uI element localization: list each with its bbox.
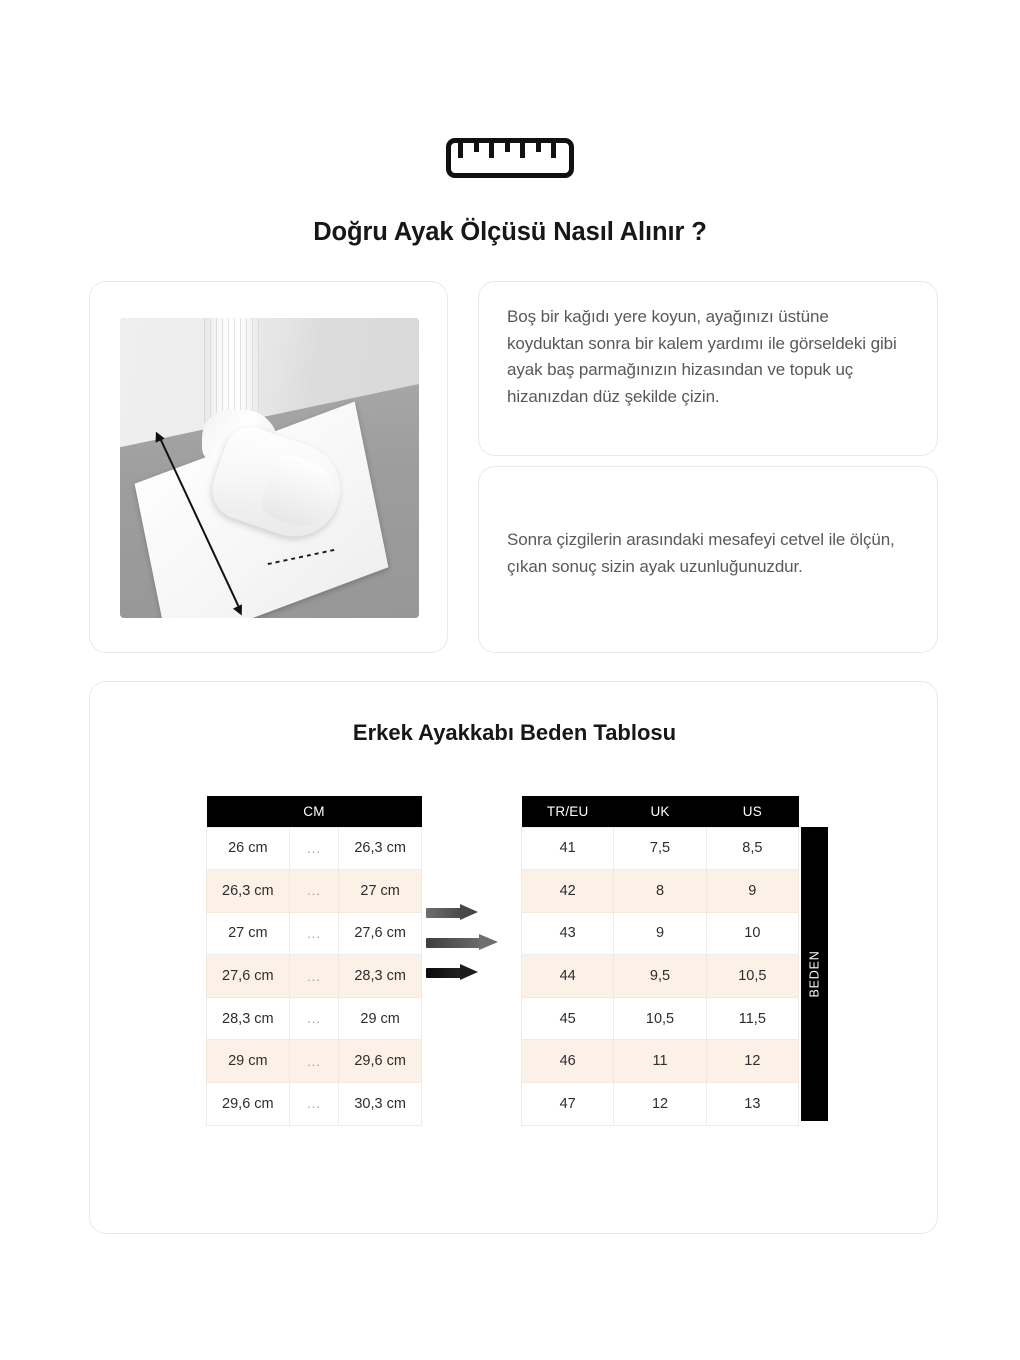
- cm-to-cell: 29 cm: [339, 997, 422, 1040]
- arrow-tip: [460, 964, 478, 980]
- table-row: 29,6 cm...30,3 cm: [207, 1083, 422, 1126]
- arrow-bar: [426, 938, 481, 948]
- cm-table-header-row: CM: [207, 796, 422, 827]
- table-row: 27,6 cm...28,3 cm: [207, 955, 422, 998]
- treu-cell: 47: [522, 1083, 614, 1126]
- ruler-tick: [458, 143, 463, 158]
- cm-from-cell: 28,3 cm: [207, 997, 290, 1040]
- cm-separator-cell: ...: [289, 997, 339, 1040]
- cm-from-cell: 29,6 cm: [207, 1083, 290, 1126]
- treu-cell: 43: [522, 912, 614, 955]
- size-chart-title: Erkek Ayakkabı Beden Tablosu: [90, 720, 939, 746]
- cm-column-header: CM: [207, 796, 422, 827]
- uk-cell: 9,5: [614, 955, 706, 998]
- uk-cell: 11: [614, 1040, 706, 1083]
- us-cell: 11,5: [706, 997, 798, 1040]
- ruler-tick: [520, 143, 525, 158]
- cm-to-cell: 27 cm: [339, 870, 422, 913]
- cm-from-cell: 26 cm: [207, 827, 290, 870]
- size-column-header: UK: [614, 796, 706, 827]
- cm-from-cell: 29 cm: [207, 1040, 290, 1083]
- instruction-card-2: Sonra çizgilerin arasındaki mesafeyi cet…: [478, 466, 938, 653]
- arrow-tip: [460, 904, 478, 920]
- size-guide-page: Doğru Ayak Ölçüsü Nasıl Alınır ? Boş bir…: [0, 0, 1020, 1360]
- table-row: 26 cm...26,3 cm: [207, 827, 422, 870]
- size-table-head: TR/EUUKUS: [522, 796, 799, 827]
- table-row: 28,3 cm...29 cm: [207, 997, 422, 1040]
- ruler-icon: [446, 138, 574, 178]
- treu-cell: 44: [522, 955, 614, 998]
- uk-cell: 8: [614, 870, 706, 913]
- cm-to-cell: 30,3 cm: [339, 1083, 422, 1126]
- cm-to-cell: 29,6 cm: [339, 1040, 422, 1083]
- ruler-tick: [489, 143, 494, 158]
- table-row: 4289: [522, 870, 799, 913]
- page-title: Doğru Ayak Ölçüsü Nasıl Alınır ?: [0, 218, 1020, 247]
- us-cell: 10: [706, 912, 798, 955]
- treu-cell: 46: [522, 1040, 614, 1083]
- beden-side-label: BEDEN: [801, 827, 828, 1121]
- instruction-text-2: Sonra çizgilerin arasındaki mesafeyi cet…: [507, 527, 899, 580]
- cm-separator-cell: ...: [289, 870, 339, 913]
- arrow-bar: [426, 908, 462, 918]
- table-row: 461112: [522, 1040, 799, 1083]
- instruction-photo-card: [89, 281, 448, 653]
- size-chart-card: Erkek Ayakkabı Beden Tablosu CM 26 cm...…: [89, 681, 938, 1234]
- table-row: 417,58,5: [522, 827, 799, 870]
- size-column-header: TR/EU: [522, 796, 614, 827]
- cm-separator-cell: ...: [289, 912, 339, 955]
- cm-to-cell: 26,3 cm: [339, 827, 422, 870]
- cm-separator-cell: ...: [289, 1083, 339, 1126]
- arrow-right-icon-3: [426, 964, 478, 981]
- ruler-tick: [474, 143, 479, 152]
- us-cell: 13: [706, 1083, 798, 1126]
- ruler-tick: [551, 143, 556, 158]
- us-cell: 12: [706, 1040, 798, 1083]
- uk-cell: 10,5: [614, 997, 706, 1040]
- cm-from-cell: 26,3 cm: [207, 870, 290, 913]
- size-table-header-row: TR/EUUKUS: [522, 796, 799, 827]
- table-row: 43910: [522, 912, 799, 955]
- cm-from-cell: 27,6 cm: [207, 955, 290, 998]
- cm-table-body: 26 cm...26,3 cm26,3 cm...27 cm27 cm...27…: [207, 827, 422, 1125]
- us-cell: 9: [706, 870, 798, 913]
- ruler-tick: [505, 143, 510, 152]
- uk-cell: 7,5: [614, 827, 706, 870]
- arrow-tip: [479, 934, 498, 950]
- arrow-bar: [426, 968, 462, 978]
- uk-cell: 9: [614, 912, 706, 955]
- cm-to-cell: 28,3 cm: [339, 955, 422, 998]
- ruler-icon-wrap: [0, 138, 1020, 178]
- size-table: TR/EUUKUS 417,58,5428943910449,510,54510…: [521, 796, 799, 1126]
- table-row: 471213: [522, 1083, 799, 1126]
- cm-separator-cell: ...: [289, 955, 339, 998]
- instruction-card-1: Boş bir kağıdı yere koyun, ayağınızı üst…: [478, 281, 938, 456]
- photo-sock-ribbing: [204, 318, 260, 425]
- instruction-text-1: Boş bir kağıdı yere koyun, ayağınızı üst…: [507, 304, 907, 410]
- us-cell: 10,5: [706, 955, 798, 998]
- cm-separator-cell: ...: [289, 827, 339, 870]
- treu-cell: 42: [522, 870, 614, 913]
- table-row: 4510,511,5: [522, 997, 799, 1040]
- arrow-right-icon-2: [426, 934, 498, 951]
- ruler-tick: [536, 143, 541, 152]
- size-column-header: US: [706, 796, 798, 827]
- photo-sock-leg: [204, 318, 260, 425]
- size-table-body: 417,58,5428943910449,510,54510,511,54611…: [522, 827, 799, 1125]
- table-row: 26,3 cm...27 cm: [207, 870, 422, 913]
- treu-cell: 45: [522, 997, 614, 1040]
- conversion-arrows: [426, 904, 516, 989]
- cm-table: CM 26 cm...26,3 cm26,3 cm...27 cm27 cm..…: [206, 796, 422, 1126]
- table-row: 449,510,5: [522, 955, 799, 998]
- cm-to-cell: 27,6 cm: [339, 912, 422, 955]
- uk-cell: 12: [614, 1083, 706, 1126]
- us-cell: 8,5: [706, 827, 798, 870]
- table-row: 27 cm...27,6 cm: [207, 912, 422, 955]
- cm-from-cell: 27 cm: [207, 912, 290, 955]
- cm-separator-cell: ...: [289, 1040, 339, 1083]
- beden-label-text: BEDEN: [808, 950, 822, 997]
- cm-table-head: CM: [207, 796, 422, 827]
- foot-measurement-photo: [120, 318, 419, 618]
- treu-cell: 41: [522, 827, 614, 870]
- table-row: 29 cm...29,6 cm: [207, 1040, 422, 1083]
- arrow-right-icon-1: [426, 904, 478, 921]
